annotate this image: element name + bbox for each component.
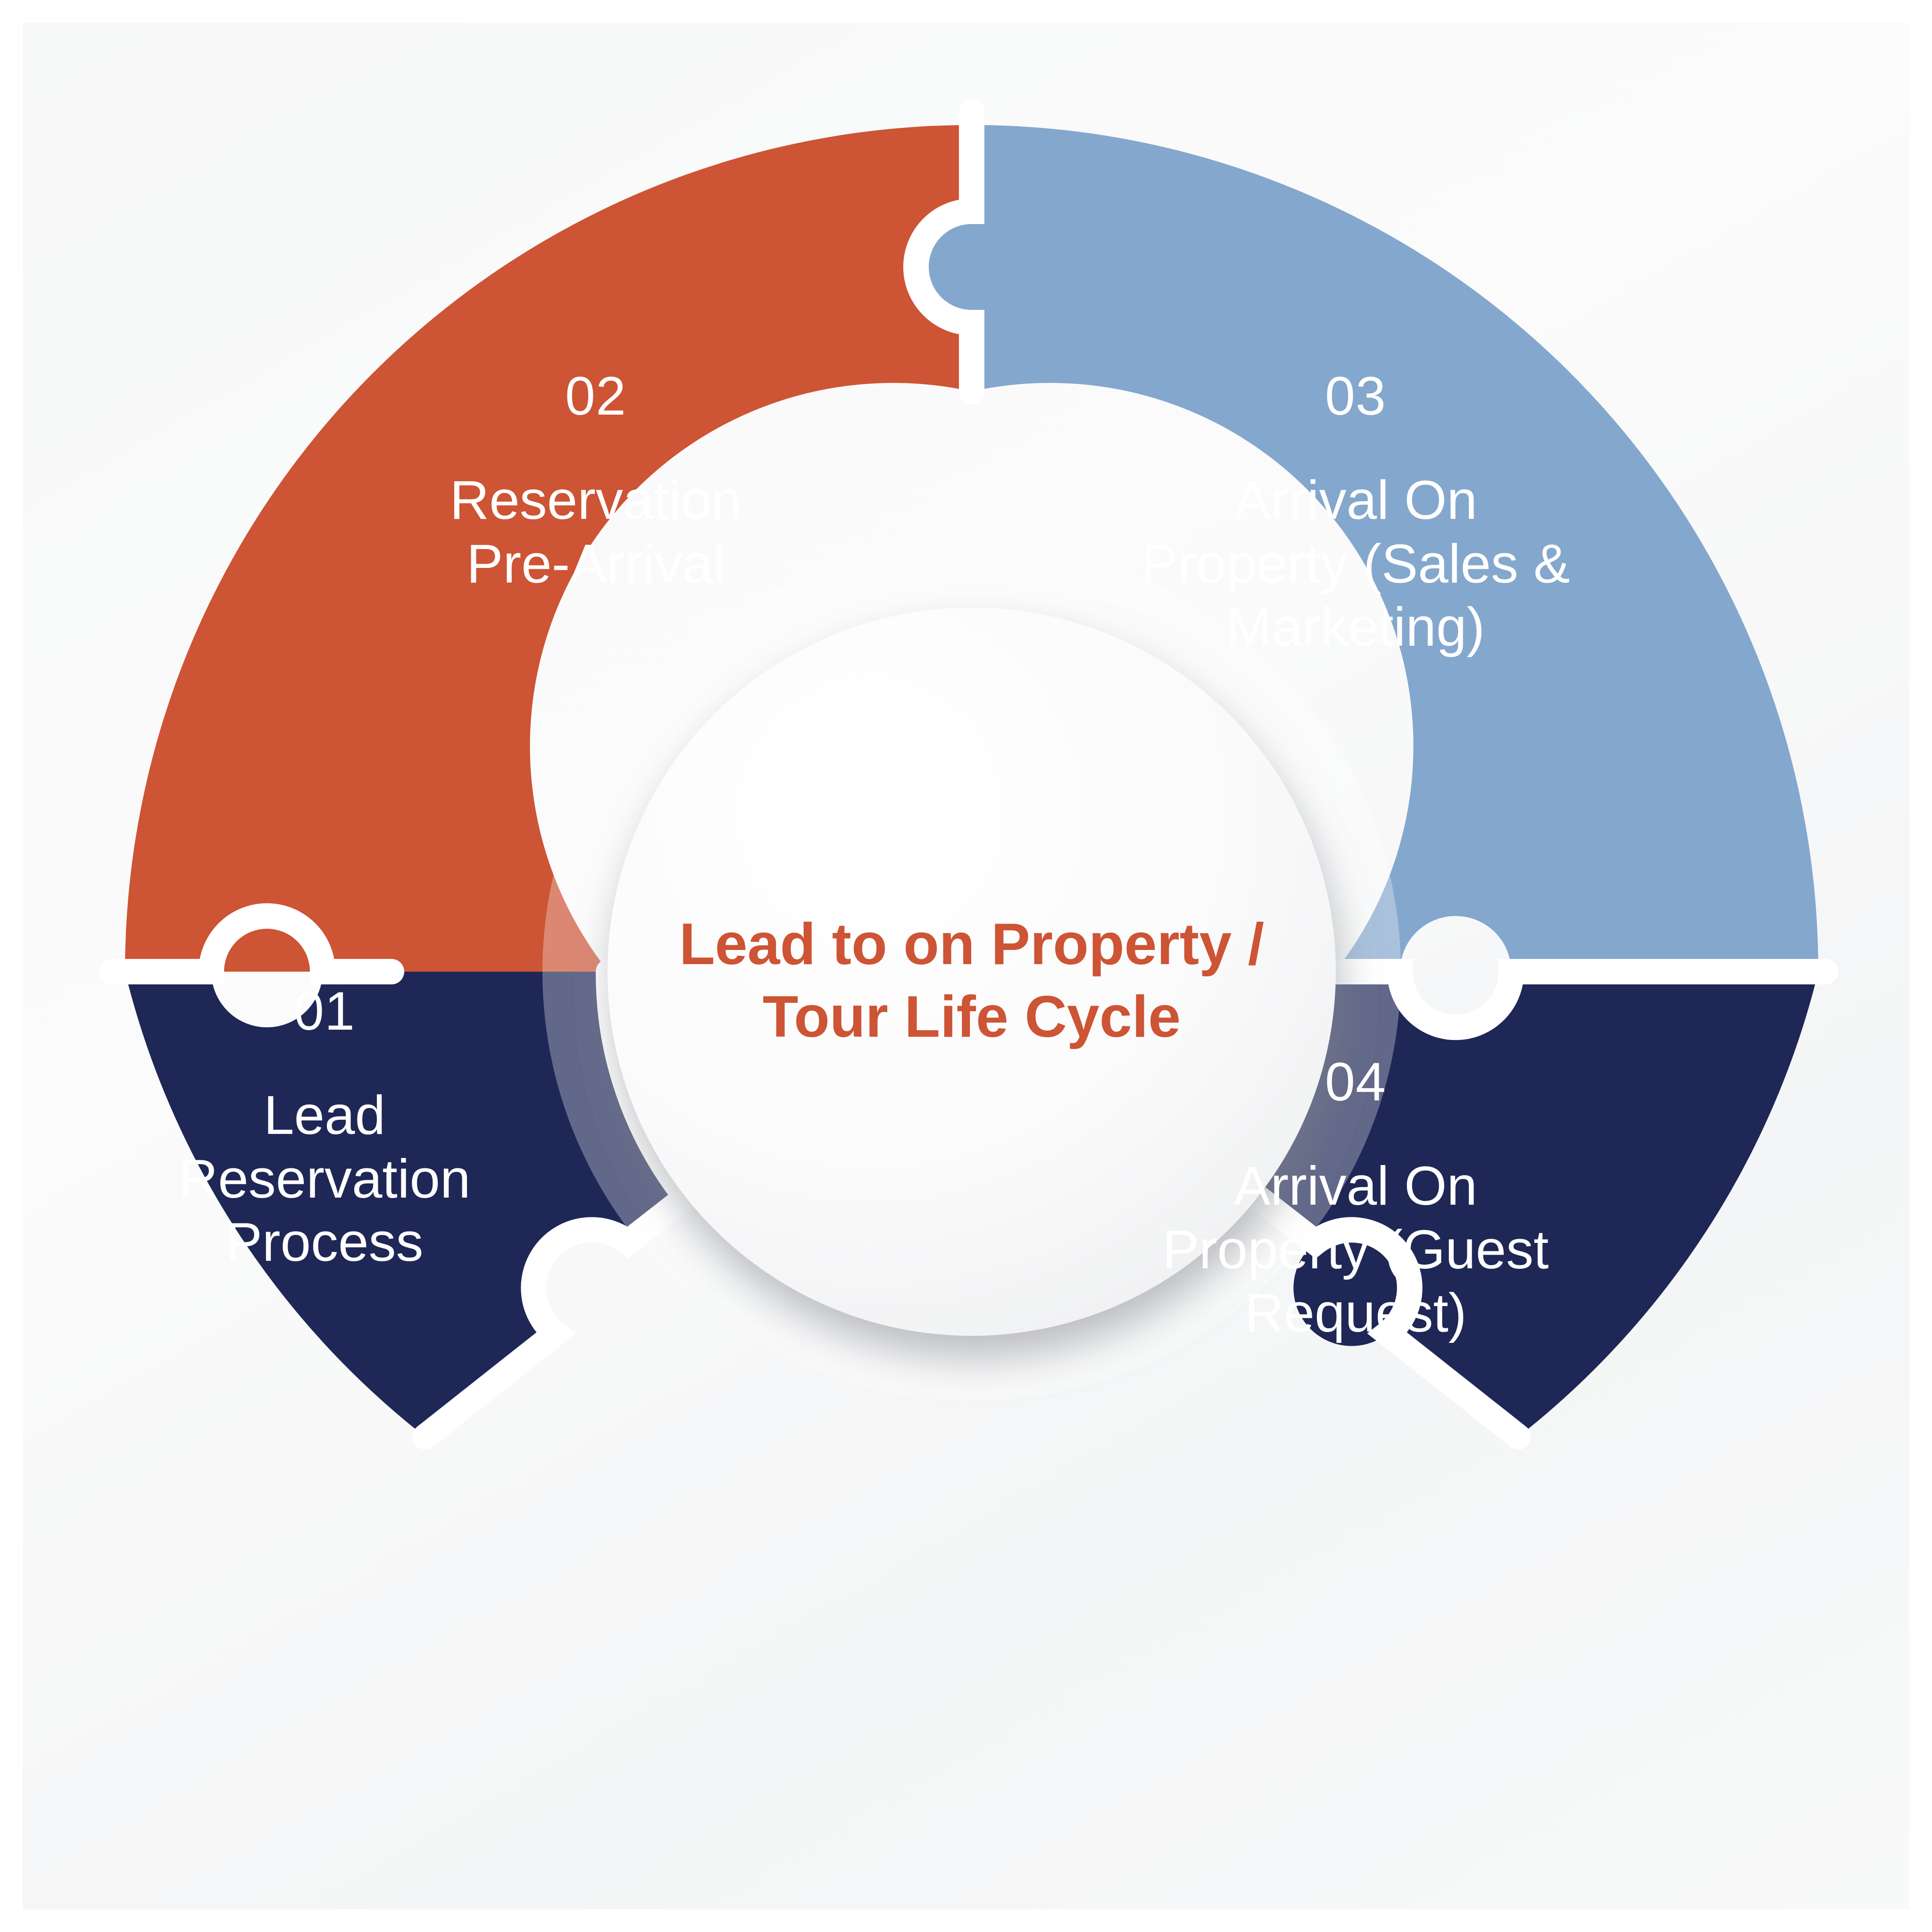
puzzle-segments-svg (23, 23, 1909, 1909)
circular-puzzle-diagram: 01 Lead Reservation Process 02 Reservati… (23, 23, 1909, 1909)
image-canvas: 01 Lead Reservation Process 02 Reservati… (0, 0, 1932, 1932)
diagram-stage: 01 Lead Reservation Process 02 Reservati… (23, 23, 1909, 1909)
hub-circle[interactable] (608, 608, 1336, 1336)
